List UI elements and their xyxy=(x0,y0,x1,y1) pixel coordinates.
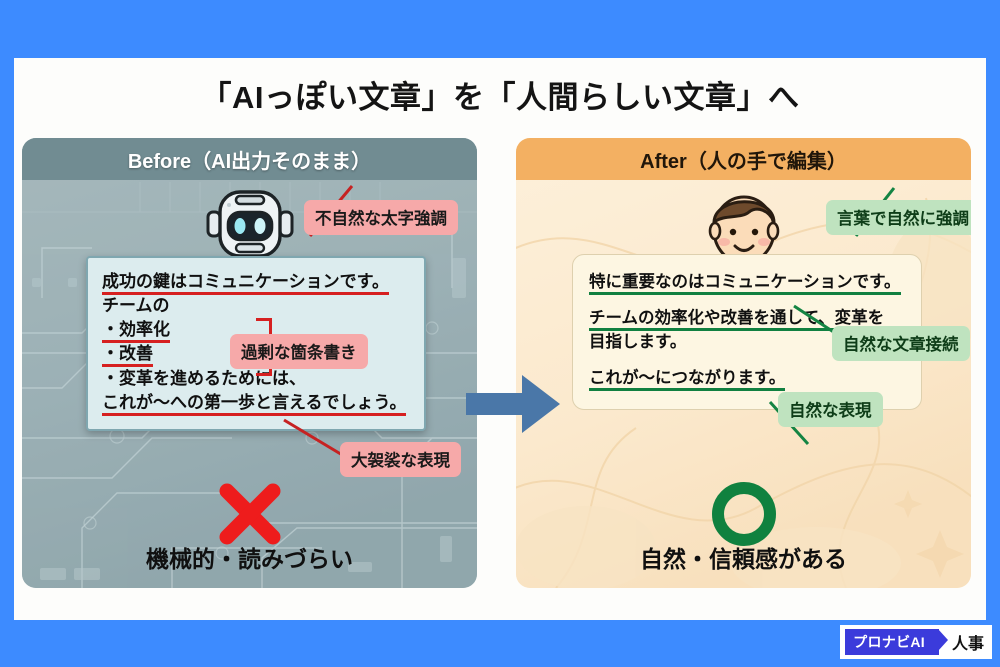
before-panel: Before（AI出力そのまま） 成功の鍵はコ xyxy=(22,138,477,588)
before-line-1: 成功の鍵はコミュニケーションです。 xyxy=(102,270,414,294)
right-arrow-icon xyxy=(466,373,562,435)
after-panel: After（人の手で編集） 特に重要なのはコミ xyxy=(516,138,971,588)
before-line-2: チームの xyxy=(102,294,414,318)
after-line-1: 特に重要なのはコミュニケーションです。 xyxy=(589,271,909,294)
brand-logo[interactable]: プロナビAI 人事 xyxy=(840,625,992,659)
after-tag-natural-expression[interactable]: 自然な表現 xyxy=(778,392,883,427)
slide-canvas: 「AIっぽい文章」を「人間らしい文章」へ xyxy=(0,0,1000,667)
after-tag-natural-emphasis[interactable]: 言葉で自然に強調 xyxy=(826,200,971,235)
before-caption: 機械的・読みづらい xyxy=(22,540,477,574)
slide-card: 「AIっぽい文章」を「人間らしい文章」へ xyxy=(14,58,986,620)
before-tag-bold-emphasis[interactable]: 不自然な太字強調 xyxy=(304,200,458,235)
before-panel-body: 成功の鍵はコミュニケーションです。 チームの ・効率化 ・改善 ・変革を進めるた… xyxy=(22,180,477,588)
before-panel-header: Before（AI出力そのまま） xyxy=(22,138,477,180)
brand-chip: プロナビAI xyxy=(845,629,939,655)
after-panel-header: After（人の手で編集） xyxy=(516,138,971,180)
after-panel-body: 特に重要なのはコミュニケーションです。 チームの効率化や改善を通して、変革を 目… xyxy=(516,180,971,588)
before-line-6: これが〜への第一歩と言えるでしょう。 xyxy=(102,391,414,415)
brand-suffix: 人事 xyxy=(952,630,984,654)
before-tag-excessive-bullets[interactable]: 過剰な箇条書き xyxy=(230,334,368,369)
after-caption: 自然・信頼感がある xyxy=(516,540,971,574)
after-tag-natural-connection[interactable]: 自然な文章接続 xyxy=(832,326,970,361)
after-line-3: これが〜につながります。 xyxy=(589,367,909,390)
before-tag-exaggerated[interactable]: 大袈裟な表現 xyxy=(340,442,461,477)
page-title: 「AIっぽい文章」を「人間らしい文章」へ xyxy=(14,72,986,117)
